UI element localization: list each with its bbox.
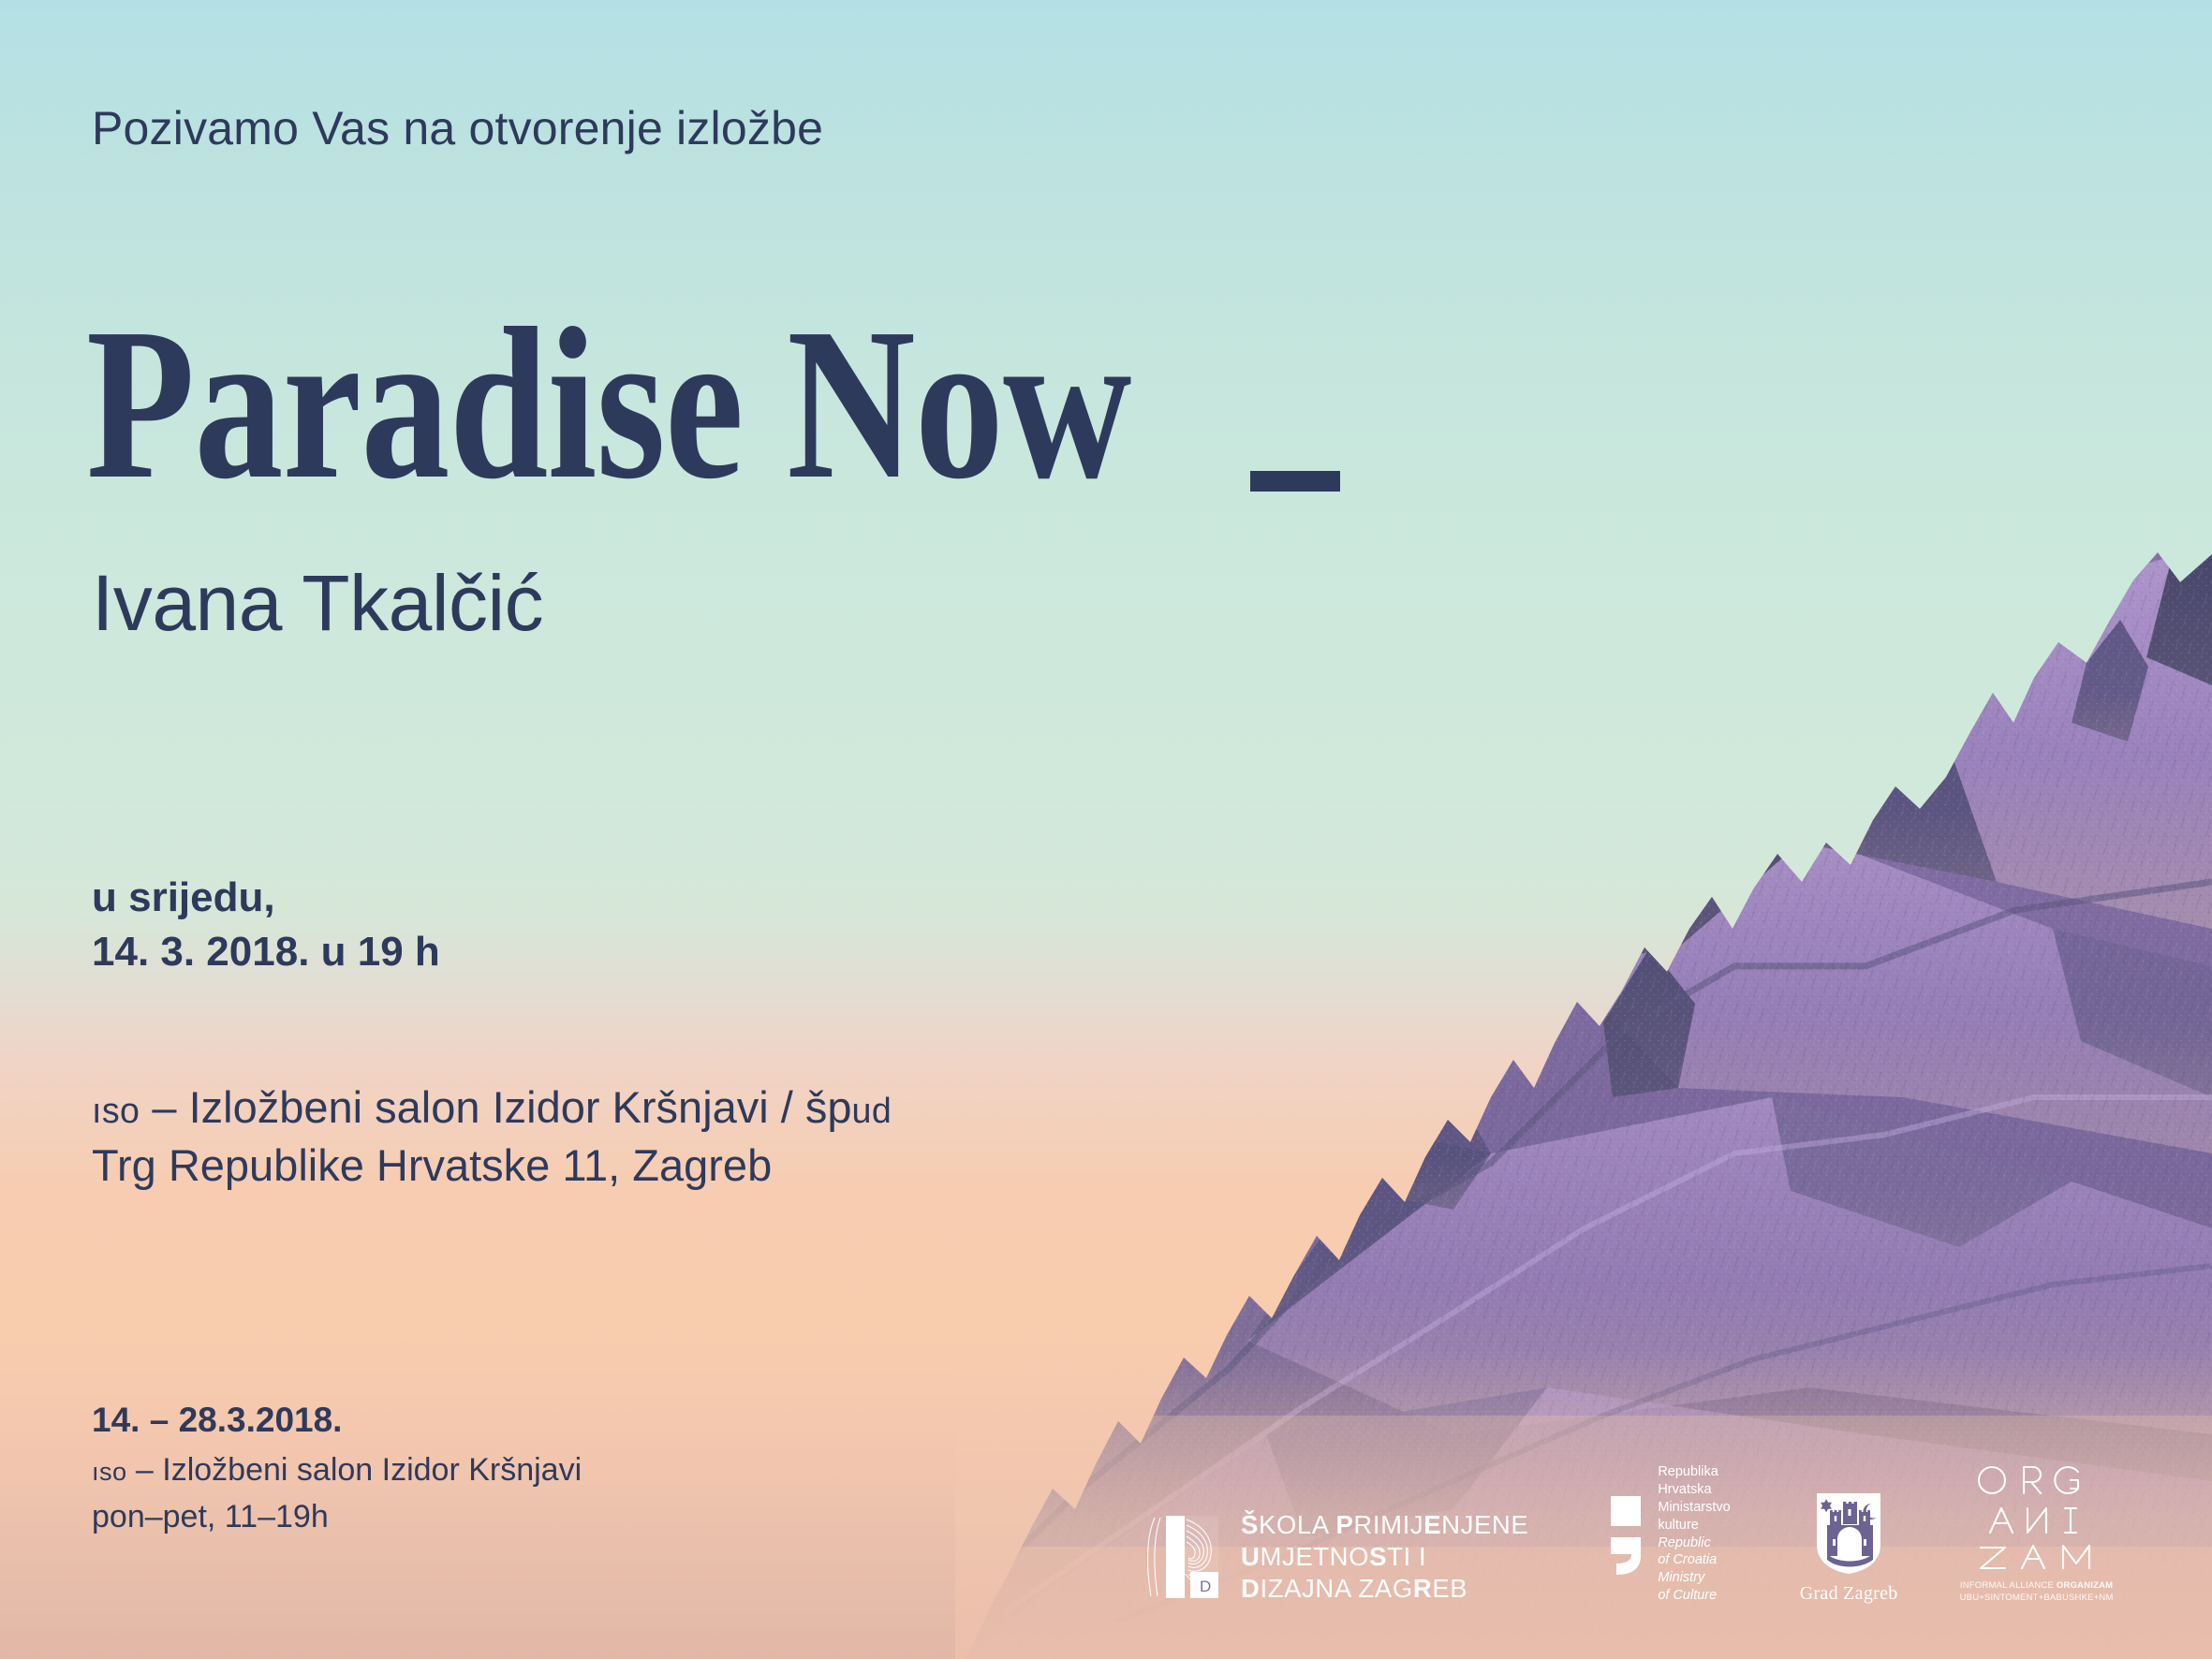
run-venue-abbrev: ıso <box>92 1457 126 1486</box>
exhibition-poster: Pozivamo Vas na otvorenje izložbe Paradi… <box>0 0 2212 1659</box>
zagreb-caption: Grad Zagreb <box>1800 1583 1898 1605</box>
opening-day: u srijedu, <box>92 871 440 925</box>
venue-abbrev: ıso <box>92 1091 140 1130</box>
logo-ministry-of-culture: Republika Hrvatska Ministarstvo kulture … <box>1609 1463 1730 1605</box>
zagreb-coat-of-arms-icon <box>1814 1490 1883 1577</box>
logo-organizam: INFORMAL ALLIANCE ORGANIZAM UBU+SINTOMEN… <box>1960 1461 2114 1605</box>
spud-line-1: ŠKOLA PRIMIJENJENE <box>1241 1509 1528 1541</box>
venue-name: – Izložbeni salon Izidor Kršnjavi / <box>140 1082 805 1132</box>
title-underscore-mark <box>1250 471 1340 492</box>
spud-school-mark-icon: D <box>1138 1514 1220 1600</box>
run-dates: 14. – 28.3.2018. <box>92 1395 582 1446</box>
venue-name-line: ıso – Izložbeni salon Izidor Kršnjavi / … <box>92 1079 892 1137</box>
opening-date-time: 14. 3. 2018. u 19 h <box>92 925 440 979</box>
organizam-fine-line-2: UBU+SINTOMENT+BABUSHKE+NM <box>1960 1593 2114 1605</box>
logo-spud: D ŠKOLA PRIMIJENJENE UMJETNOSTI I DIZAJN… <box>1138 1509 1528 1605</box>
page-title: Paradise Now <box>86 296 1131 513</box>
ministry-hr-1: Republika <box>1658 1463 1730 1481</box>
ministry-wordmark: Republika Hrvatska Ministarstvo kulture … <box>1658 1463 1730 1605</box>
exhibition-run-block: 14. – 28.3.2018. ıso – Izložbeni salon I… <box>92 1395 582 1540</box>
ministry-en-1: Republic <box>1658 1535 1710 1550</box>
svg-text:D: D <box>1200 1578 1211 1595</box>
semicolon-mark-icon <box>1609 1494 1643 1575</box>
spud-line-3: DIZAJNA ZAGREB <box>1241 1573 1528 1605</box>
invitation-line: Pozivamo Vas na otvorenje izložbe <box>92 101 823 155</box>
ministry-en-4: of Culture <box>1658 1588 1717 1603</box>
run-hours: pon–pet, 11–19h <box>92 1493 582 1540</box>
logo-grad-zagreb: Grad Zagreb <box>1800 1490 1898 1605</box>
venue-address: Trg Republike Hrvatske 11, Zagreb <box>92 1137 892 1195</box>
ministry-hr-2: Hrvatska <box>1658 1481 1730 1499</box>
spud-wordmark: ŠKOLA PRIMIJENJENE UMJETNOSTI I DIZAJNA … <box>1241 1509 1528 1605</box>
artist-name: Ivana Tkalčić <box>92 558 543 649</box>
sponsor-logo-strip: D ŠKOLA PRIMIJENJENE UMJETNOSTI I DIZAJN… <box>1138 1461 2114 1605</box>
ministry-en-2: of Croatia <box>1658 1552 1717 1567</box>
opening-datetime: u srijedu, 14. 3. 2018. u 19 h <box>92 871 440 979</box>
spud-line-2: UMJETNOSTI I <box>1241 1541 1528 1573</box>
venue-partner-caps: šp <box>805 1082 852 1132</box>
venue-partner-small: ud <box>852 1091 892 1130</box>
organizam-fine-line-1: INFORMAL ALLIANCE ORGANIZAM <box>1960 1580 2114 1593</box>
organizam-wordmark-icon <box>1973 1461 2101 1571</box>
ministry-hr-3: Ministarstvo <box>1658 1499 1730 1517</box>
organizam-fine-print: INFORMAL ALLIANCE ORGANIZAM UBU+SINTOMEN… <box>1960 1580 2114 1605</box>
exhibition-title-block: Paradise Now <box>86 296 1451 513</box>
ministry-en-3: Ministry <box>1658 1570 1704 1585</box>
run-venue: ıso – Izložbeni salon Izidor Kršnjavi <box>92 1446 582 1493</box>
venue-block: ıso – Izložbeni salon Izidor Kršnjavi / … <box>92 1079 892 1195</box>
ministry-hr-4: kulture <box>1658 1517 1730 1534</box>
run-venue-name: – Izložbeni salon Izidor Kršnjavi <box>126 1452 582 1488</box>
